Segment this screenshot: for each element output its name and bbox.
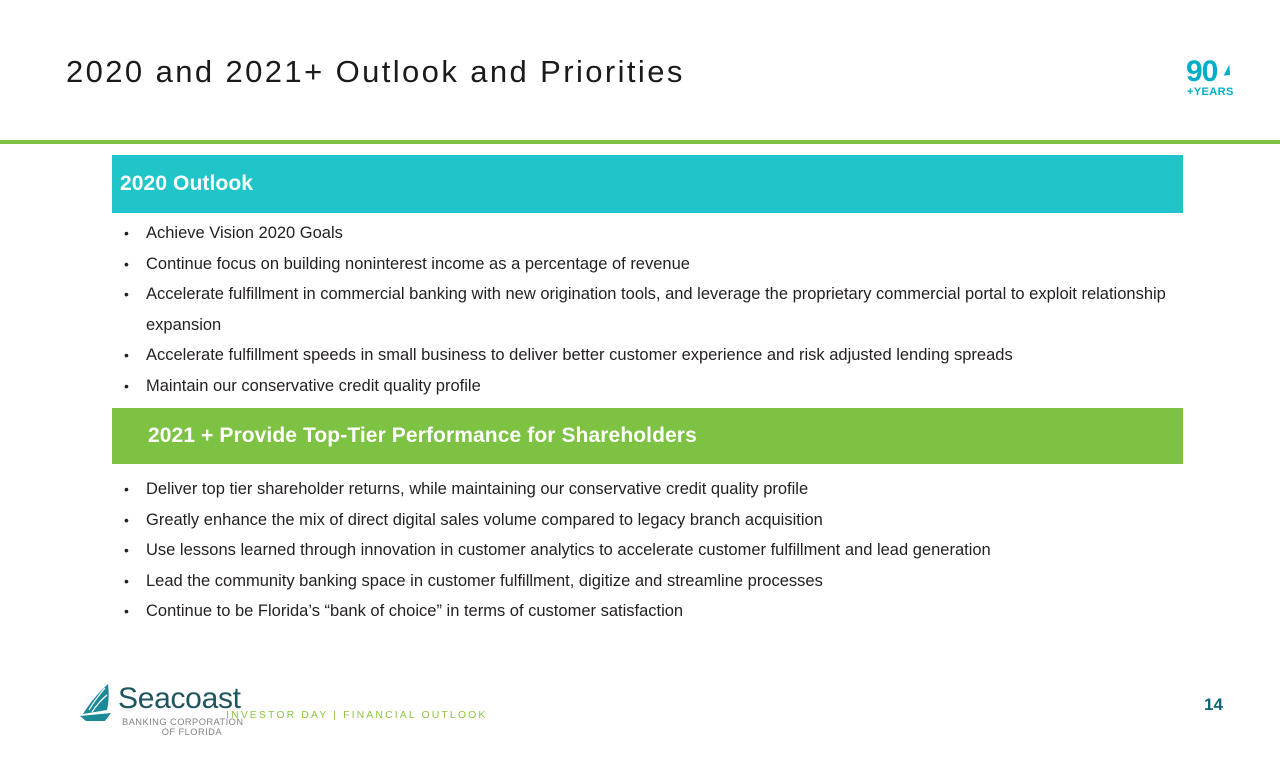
bullet-list-2020-outlook: Achieve Vision 2020 Goals Continue focus… (112, 218, 1187, 402)
slide-footer: Seacoast BANKING CORPORATION OF FLORIDA … (0, 655, 1280, 777)
page-title: 2020 and 2021+ Outlook and Priorities (66, 54, 685, 90)
section-title: 2020 Outlook (120, 172, 253, 196)
anniversary-logo: 90 +YEARS (1186, 57, 1242, 105)
slide-header: 2020 and 2021+ Outlook and Priorities 90… (0, 0, 1280, 140)
section-title: 2021 + Provide Top-Tier Performance for … (148, 424, 697, 448)
seacoast-sailboat-icon (78, 683, 116, 723)
list-item: Accelerate fulfillment in commercial ban… (112, 279, 1187, 340)
footer-tagline: INVESTOR DAY | FINANCIAL OUTLOOK (226, 709, 488, 721)
list-item: Lead the community banking space in cust… (112, 566, 1187, 597)
list-item: Continue focus on building noninterest i… (112, 249, 1187, 280)
list-item: Achieve Vision 2020 Goals (112, 218, 1187, 249)
seacoast-logo: Seacoast BANKING CORPORATION OF FLORIDA (66, 669, 228, 741)
list-item: Use lessons learned through innovation i… (112, 535, 1187, 566)
list-item: Accelerate fulfillment speeds in small b… (112, 340, 1187, 371)
section-header-2021-performance: 2021 + Provide Top-Tier Performance for … (112, 408, 1183, 464)
header-divider (0, 140, 1280, 144)
list-item: Continue to be Florida’s “bank of choice… (112, 596, 1187, 627)
page-number: 14 (1204, 695, 1223, 715)
seacoast-wordmark: Seacoast (118, 683, 241, 715)
list-item: Maintain our conservative credit quality… (112, 371, 1187, 402)
sailboat-icon (1216, 61, 1236, 83)
list-item: Deliver top tier shareholder returns, wh… (112, 474, 1187, 505)
bullet-list-2021-performance: Deliver top tier shareholder returns, wh… (112, 474, 1187, 627)
list-item: Greatly enhance the mix of direct digita… (112, 505, 1187, 536)
anniversary-years-label: +YEARS (1187, 86, 1243, 98)
section-header-2020-outlook: 2020 Outlook (112, 155, 1183, 213)
seacoast-subtitle-line2: OF FLORIDA (122, 727, 222, 738)
